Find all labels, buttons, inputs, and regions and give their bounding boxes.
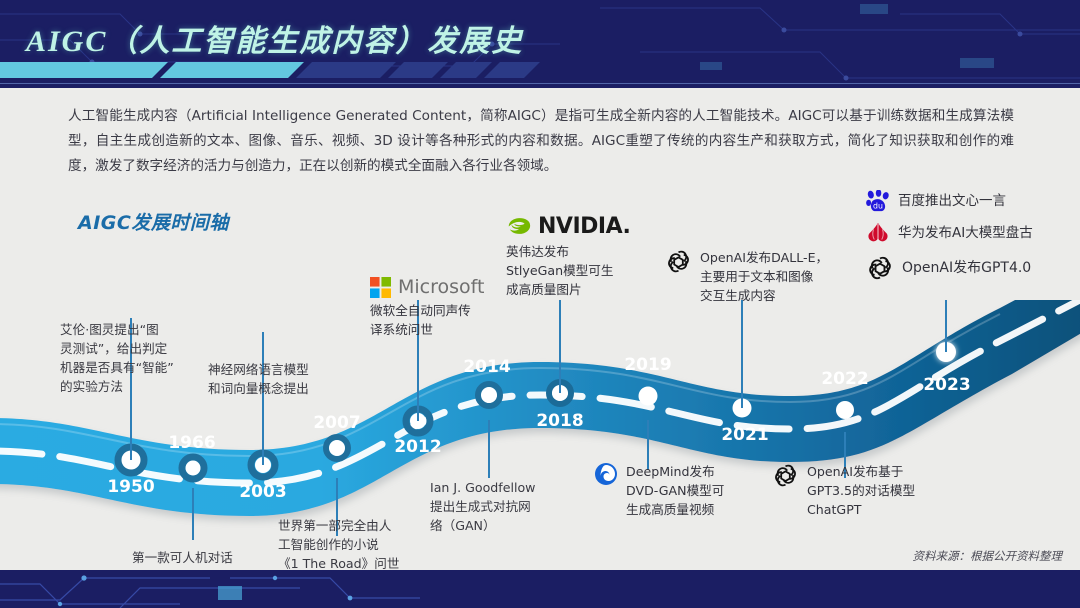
event-label-2018: 英伟达发布 StlyeGan模型可生 成高质量图片 xyxy=(506,242,624,299)
timeline-node-2014[interactable] xyxy=(478,384,500,406)
event-label-1950: 艾伦·图灵提出“图 灵测试”，给出判定 机器是否具有“智能” 的实验方法 xyxy=(60,320,210,396)
year-label-2003: 2003 xyxy=(239,482,286,502)
event-label-2003: 神经网络语言模型 和词向量概念提出 xyxy=(208,360,368,398)
year-label-2018: 2018 xyxy=(536,411,583,431)
microsoft-wordmark: Microsoft xyxy=(398,276,484,298)
event-row-huawei: 华为发布AI大模型盘古 xyxy=(866,222,1033,245)
openai-icon xyxy=(772,462,799,489)
header-underline xyxy=(0,83,1080,84)
timeline-node-2007[interactable] xyxy=(326,437,348,459)
event-block-2019: DeepMind发布 DVD-GAN模型可 生成高质量视频 xyxy=(594,462,748,519)
intro-paragraph: 人工智能生成内容（Artificial Intelligence Generat… xyxy=(68,104,1014,179)
microsoft-icon xyxy=(370,277,391,298)
timeline-node-2019[interactable] xyxy=(639,387,658,406)
nvidia-wordmark: NVIDIA. xyxy=(538,214,630,239)
event-label-2012: 微软全自动同声传 译系统问世 xyxy=(370,301,498,339)
openai-icon xyxy=(665,248,692,275)
slide-header: AIGC（人工智能生成内容）发展史 xyxy=(0,0,1080,88)
event-row-openai-gpt4: OpenAI发布GPT4.0 xyxy=(866,254,1033,282)
circuit-pattern-icon xyxy=(0,570,1080,608)
event-row-baidu: du 百度推出文心一言 xyxy=(866,190,1033,213)
event-block-2012: Microsoft 微软全自动同声传 译系统问世 xyxy=(370,276,498,339)
event-block-2018: NVIDIA. 英伟达发布 StlyeGan模型可生 成高质量图片 xyxy=(506,214,630,299)
slide-canvas: AIGC（人工智能生成内容）发展史 人工智能生成内容（Artificial In… xyxy=(0,0,1080,608)
nvidia-icon xyxy=(506,217,532,236)
timeline-node-1966[interactable] xyxy=(182,457,204,479)
event-label-baidu: 百度推出文心一言 xyxy=(898,192,1006,211)
year-label-2014: 2014 xyxy=(463,357,510,377)
svg-text:du: du xyxy=(873,201,883,210)
event-block-2021: OpenAI发布DALL-E， 主要用于文本和图像 交互生成内容 xyxy=(665,248,850,305)
year-label-2022: 2022 xyxy=(821,369,868,389)
event-label-huawei: 华为发布AI大模型盘古 xyxy=(898,224,1033,243)
slide-footer xyxy=(0,570,1080,608)
event-label-2022: OpenAI发布基于 GPT3.5的对话模型 ChatGPT xyxy=(807,462,937,519)
event-block-2022: OpenAI发布基于 GPT3.5的对话模型 ChatGPT xyxy=(772,462,937,519)
timeline-node-2022[interactable] xyxy=(836,401,854,419)
year-label-2012: 2012 xyxy=(394,437,441,457)
event-label-2021: OpenAI发布DALL-E， 主要用于文本和图像 交互生成内容 xyxy=(700,248,850,305)
openai-icon xyxy=(866,254,894,282)
year-label-2007: 2007 xyxy=(313,413,360,433)
year-label-2019: 2019 xyxy=(624,355,671,375)
event-label-2019: DeepMind发布 DVD-GAN模型可 生成高质量视频 xyxy=(626,462,748,519)
year-label-2023: 2023 xyxy=(923,375,970,395)
deepmind-icon xyxy=(594,462,618,486)
event-label-openai-gpt4: OpenAI发布GPT4.0 xyxy=(902,259,1031,278)
year-label-2021: 2021 xyxy=(721,425,768,445)
source-note: 资料来源：根据公开资料整理 xyxy=(913,548,1063,564)
event-block-2023: du 百度推出文心一言 华为发布AI大模型盘古 xyxy=(866,190,1033,282)
timeline-section-title: AIGC发展时间轴 xyxy=(78,208,229,235)
year-label-1966: 1966 xyxy=(168,433,215,453)
header-accent-bars xyxy=(0,62,760,78)
baidu-icon: du xyxy=(866,190,890,213)
event-label-2014: Ian J. Goodfellow 提出生成式对抗网 络（GAN） xyxy=(430,478,600,535)
huawei-icon xyxy=(866,222,890,245)
year-label-1950: 1950 xyxy=(107,477,154,497)
page-title: AIGC（人工智能生成内容）发展史 xyxy=(26,16,523,60)
